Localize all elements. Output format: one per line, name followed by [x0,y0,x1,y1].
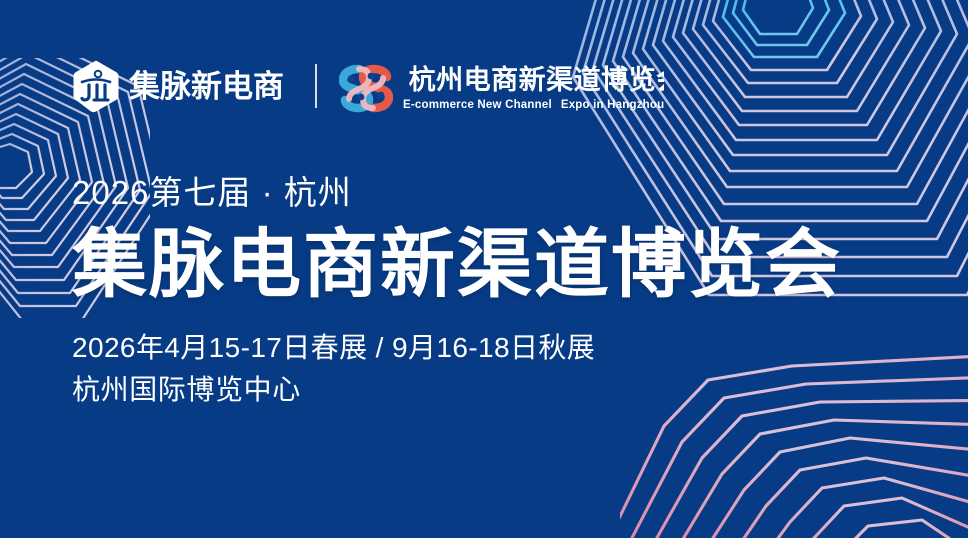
logo-row: 集脉新电商 杭州电商新渠道博览会 E-commerce New ChannelE… [72,54,664,118]
event-dates: 2026年4月15-17日春展 / 9月16-18日秋展 [72,328,862,368]
expo-name-en-left: E-commerce New Channel [403,99,552,111]
hexagon-ji-mark-icon [72,59,120,113]
vertical-divider-icon [315,64,317,108]
brand-wordmark-text: 集脉新电商 [129,69,284,104]
expo-name-cn-text: 杭州电商新渠道博览会 [409,64,665,95]
page-title: 集脉电商新渠道博览会 [72,222,862,306]
main-content: 2026第七届 · 杭州 集脉电商新渠道博览会 2026年4月15-17日春展 … [72,170,862,410]
expo-name-en: E-commerce New ChannelExpo in Hangzhou [403,99,664,111]
event-venue: 杭州国际博览中心 [72,370,862,410]
jimai-wordmark-icon: 集脉新电商 [129,66,289,106]
infinity-88-mark-icon [339,59,393,113]
expo-banner: 集脉新电商 杭州电商新渠道博览会 E-commerce New ChannelE… [0,0,968,538]
expo-wordmark-block: 杭州电商新渠道博览会 E-commerce New ChannelExpo in… [403,62,664,111]
expo-chinese-wordmark-icon: 杭州电商新渠道博览会 [403,62,664,96]
expo-name-en-right: Expo in Hangzhou [561,99,665,111]
edition-line: 2026第七届 · 杭州 [72,170,862,216]
